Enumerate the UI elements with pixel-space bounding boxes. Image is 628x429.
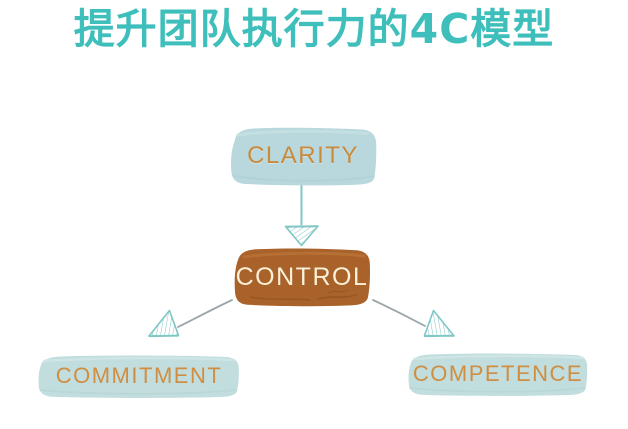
edge-control-to-commitment bbox=[149, 300, 232, 336]
node-competence-label: COMPETENCE bbox=[413, 361, 583, 387]
node-commitment-label: COMMITMENT bbox=[56, 363, 223, 389]
edge-control-to-competence bbox=[373, 300, 454, 336]
edge-clarity-to-control bbox=[286, 186, 319, 246]
node-clarity-label: CLARITY bbox=[247, 142, 359, 170]
node-control-label: CONTROL bbox=[236, 263, 369, 292]
node-clarity[interactable]: CLARITY bbox=[228, 126, 378, 186]
node-competence[interactable]: COMPETENCE bbox=[406, 352, 590, 396]
node-commitment[interactable]: COMMITMENT bbox=[36, 354, 242, 398]
page-title: 提升团队执行力的4C模型 bbox=[0, 4, 628, 55]
node-control[interactable]: CONTROL bbox=[232, 247, 372, 307]
diagram-canvas: 提升团队执行力的4C模型 bbox=[0, 0, 628, 429]
